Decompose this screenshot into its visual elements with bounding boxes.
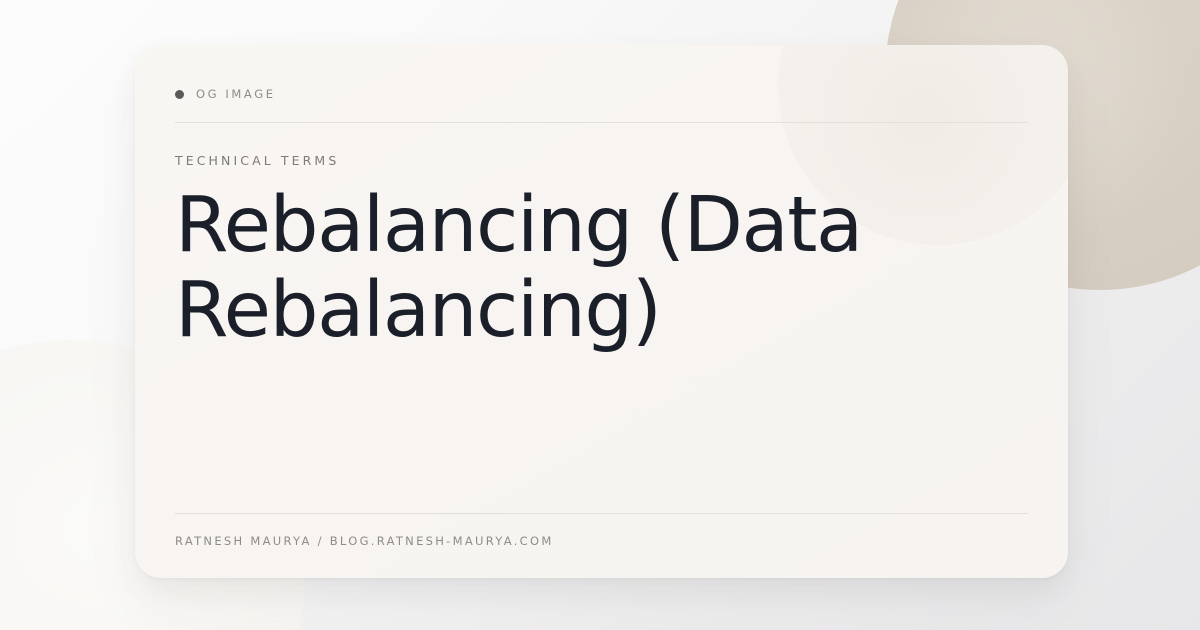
footer-attribution: RATNESH MAURYA / BLOG.RATNESH-MAURYA.COM xyxy=(175,534,1028,548)
page-title: Rebalancing (Data Rebalancing) xyxy=(175,184,935,353)
og-image-badge-label: OG IMAGE xyxy=(196,87,276,101)
footer-divider xyxy=(175,513,1028,514)
card-footer: RATNESH MAURYA / BLOG.RATNESH-MAURYA.COM xyxy=(135,513,1068,578)
card-body: OG IMAGE TECHNICAL TERMS Rebalancing (Da… xyxy=(135,45,1068,513)
header-divider xyxy=(175,122,1028,123)
category-eyebrow-label: TECHNICAL TERMS xyxy=(175,153,1028,168)
og-image-badge: OG IMAGE xyxy=(175,83,1028,105)
flex-spacer xyxy=(175,353,1028,513)
og-card: OG IMAGE TECHNICAL TERMS Rebalancing (Da… xyxy=(135,45,1068,578)
filled-circle-icon xyxy=(175,90,184,99)
og-image-canvas: OG IMAGE TECHNICAL TERMS Rebalancing (Da… xyxy=(0,0,1200,630)
